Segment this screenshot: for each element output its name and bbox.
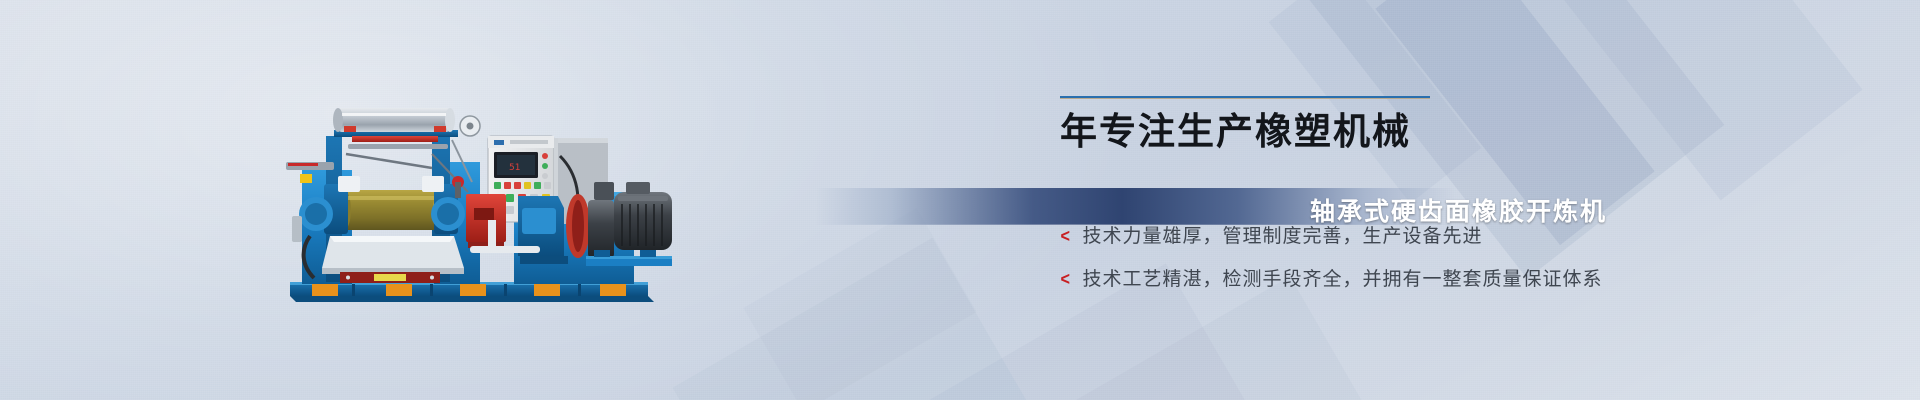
product-subtitle: 轴承式硬齿面橡胶开炼机 — [1310, 192, 1607, 228]
feature-list: < 技术力量雄厚，管理制度完善，生产设备先进 < 技术工艺精湛，检测手段齐全，并… — [1060, 221, 1700, 291]
deco-slab-bottom-3 — [743, 208, 976, 400]
product-image: 51 — [282, 96, 694, 312]
banner-content: 年专注生产橡塑机械 轴承式硬齿面橡胶开炼机 < 技术力量雄厚，管理制度完善，生产… — [1060, 96, 1700, 307]
hero-banner: 51 — [0, 0, 1920, 400]
chevron-left-icon: < — [1061, 270, 1070, 288]
svg-text:51: 51 — [509, 163, 520, 173]
headline-rule — [1060, 96, 1430, 99]
deco-slab-bottom-1 — [673, 238, 1028, 400]
chevron-left-icon: < — [1061, 227, 1070, 245]
list-item: < 技术工艺精湛，检测手段齐全，并拥有一整套质量保证体系 — [1060, 264, 1700, 291]
rubber-mixing-mill-illustration: 51 — [282, 96, 694, 312]
page-title: 年专注生产橡塑机械 — [1060, 113, 1700, 153]
feature-text: 技术工艺精湛，检测手段齐全，并拥有一整套质量保证体系 — [1083, 264, 1603, 291]
